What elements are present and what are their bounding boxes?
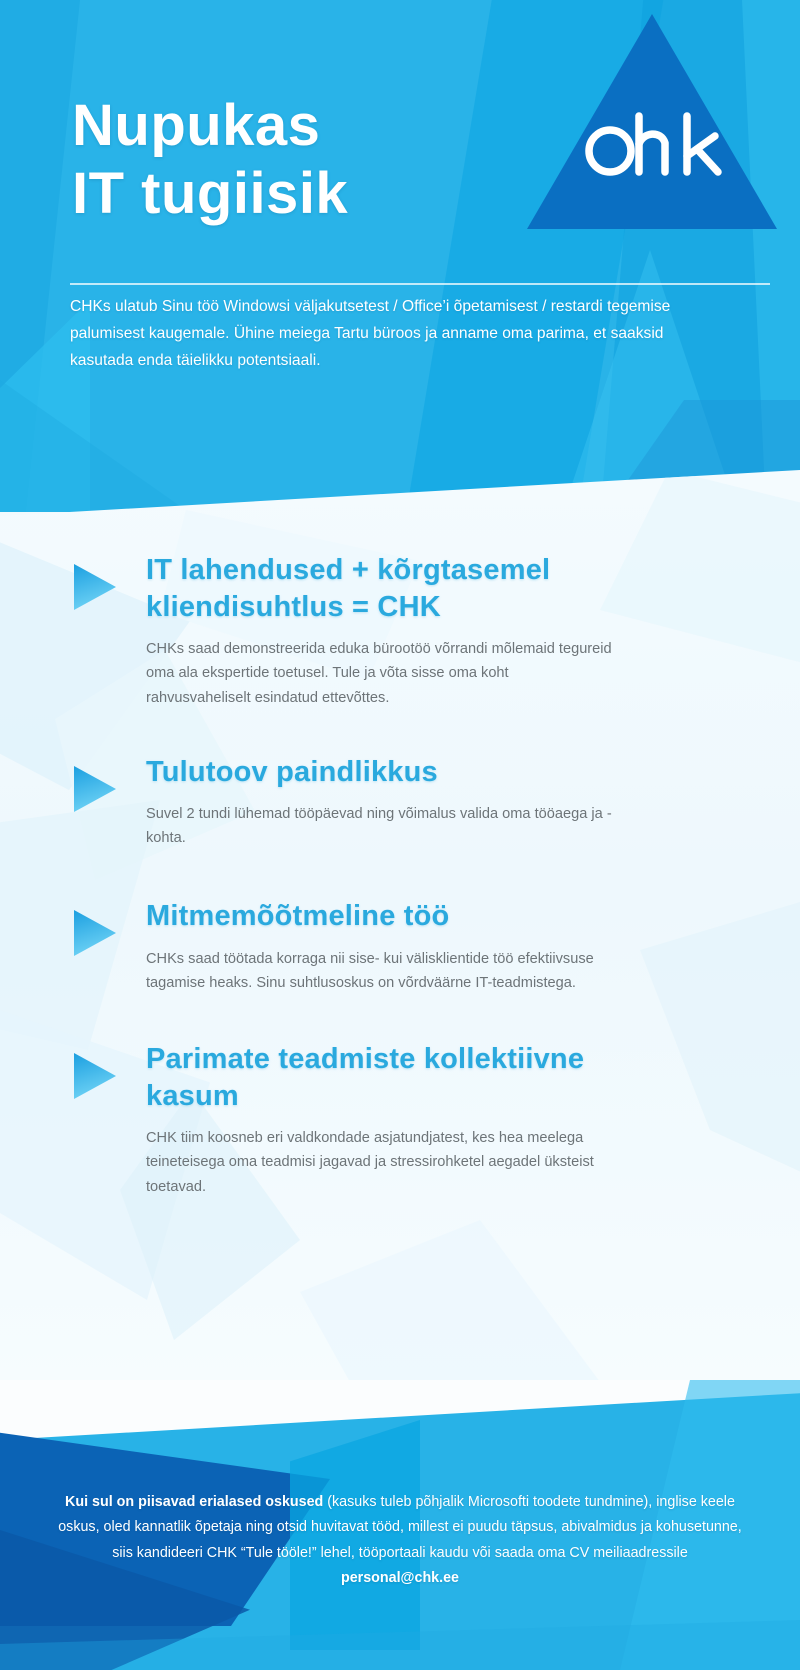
page-title: Nupukas IT tugiisik <box>72 92 348 228</box>
job-ad-poster: Nupukas IT tugiisik CHKs ulatub Sinu töö… <box>0 0 800 1670</box>
benefit-item: Parimate teadmiste kollektiivne kasum CH… <box>0 1039 800 1199</box>
benefits-area: IT lahendused + kõrgtasemel kliendisuhtl… <box>0 470 800 1400</box>
title-line-1: Nupukas <box>72 92 348 160</box>
benefit-content: Parimate teadmiste kollektiivne kasum CH… <box>146 1039 740 1199</box>
benefit-content: IT lahendused + kõrgtasemel kliendisuhtl… <box>146 550 740 710</box>
logo-triangle-icon <box>527 14 777 229</box>
benefit-title: Parimate teadmiste kollektiivne kasum <box>146 1041 626 1115</box>
benefit-item: Mitmemõõtmeline töö CHKs saad töötada ko… <box>0 896 800 995</box>
footer-banner: Kui sul on piisavad erialased oskused (k… <box>0 1380 800 1670</box>
application-instructions: Kui sul on piisavad erialased oskused (k… <box>55 1490 745 1592</box>
benefit-title: Mitmemõõtmeline töö <box>146 898 626 935</box>
benefit-text: CHKs saad töötada korraga nii sise- kui … <box>146 947 616 995</box>
play-triangle-icon <box>72 562 118 612</box>
contact-email: personal@chk.ee <box>341 1570 459 1586</box>
company-logo <box>527 14 777 229</box>
benefit-item: Tulutoov paindlikkus Suvel 2 tundi lühem… <box>0 752 800 851</box>
play-triangle-icon <box>72 1051 118 1101</box>
benefit-item: IT lahendused + kõrgtasemel kliendisuhtl… <box>0 550 800 710</box>
benefit-title: IT lahendused + kõrgtasemel kliendisuhtl… <box>146 552 626 626</box>
play-triangle-icon <box>72 908 118 958</box>
benefit-content: Mitmemõõtmeline töö CHKs saad töötada ko… <box>146 896 740 995</box>
title-line-2: IT tugiisik <box>72 160 348 228</box>
benefit-title: Tulutoov paindlikkus <box>146 754 626 791</box>
intro-paragraph: CHKs ulatub Sinu töö Windowsi väljakutse… <box>70 294 710 374</box>
hero-banner: Nupukas IT tugiisik CHKs ulatub Sinu töö… <box>0 0 800 512</box>
requirements-lead: Kui sul on piisavad erialased oskused <box>65 1494 323 1510</box>
benefit-text: CHK tiim koosneb eri valdkondade asjatun… <box>146 1126 616 1199</box>
play-triangle-icon <box>72 764 118 814</box>
benefit-text: CHKs saad demonstreerida eduka bürootöö … <box>146 637 616 710</box>
decorative-shape <box>300 1220 600 1400</box>
benefit-list: IT lahendused + kõrgtasemel kliendisuhtl… <box>0 470 800 1233</box>
hero-divider <box>70 283 770 285</box>
benefit-content: Tulutoov paindlikkus Suvel 2 tundi lühem… <box>146 752 740 851</box>
benefit-text: Suvel 2 tundi lühemad tööpäevad ning või… <box>146 802 616 850</box>
